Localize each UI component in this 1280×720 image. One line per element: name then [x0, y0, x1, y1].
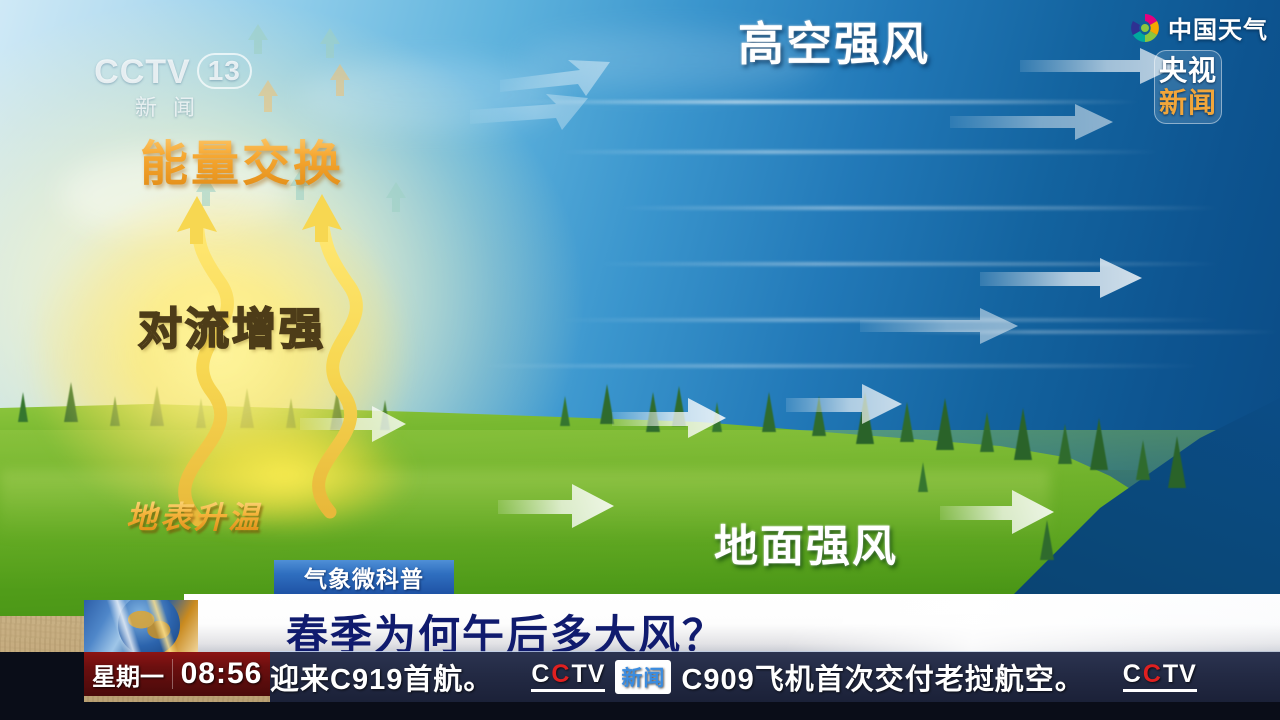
globe-swoosh	[84, 600, 198, 652]
channel-watermark-name: CCTV13	[78, 52, 268, 92]
news-badge: 央视 新闻	[1154, 50, 1222, 124]
tree	[1090, 418, 1108, 470]
weather-brand: 中国天气	[1128, 10, 1268, 45]
tree	[980, 412, 994, 452]
tree	[856, 392, 874, 444]
ticker-brand-label: 新闻	[615, 660, 671, 694]
channel-watermark: CCTV13 新闻	[78, 52, 268, 128]
category-tag: 气象微科普	[274, 560, 454, 594]
ticker-item: CCTV 新闻 C909飞机首次交付老挝航空。	[531, 656, 1084, 698]
category-tag-text: 气象微科普	[304, 560, 424, 594]
clock-time: 08:56	[173, 657, 270, 691]
tree	[672, 386, 686, 426]
ticker-content: 迎来C919首航。 CCTV 新闻 C909飞机首次交付老挝航空。 CCTV	[270, 656, 1235, 698]
tree	[712, 402, 722, 432]
ticker-item: CCTV	[1123, 662, 1197, 692]
ticker-item: 迎来C919首航。	[270, 656, 493, 698]
news-ticker: 迎来C919首航。 CCTV 新闻 C909飞机首次交付老挝航空。 CCTV	[270, 652, 1280, 702]
tree	[1168, 436, 1186, 488]
ticker-item-2-text: C909飞机首次交付老挝航空。	[681, 656, 1084, 698]
label-energy-exchange: 能量交换	[140, 124, 344, 194]
tree	[646, 392, 660, 432]
label-surface-wind: 地面强风	[714, 510, 898, 574]
tree	[812, 396, 826, 436]
tree	[1014, 408, 1032, 460]
tree	[1040, 520, 1054, 560]
label-convection: 对流增强	[138, 293, 326, 357]
cctv-logo-icon-tail: CCTV	[1123, 662, 1197, 692]
clock-panel: 星期一 08:56	[84, 652, 270, 696]
tree	[600, 384, 614, 424]
tree	[936, 398, 954, 450]
bottom-black-strip	[0, 702, 1280, 720]
tree	[560, 396, 570, 426]
ticker-item-1-text: 迎来C919首航。	[270, 656, 493, 698]
label-upper-wind: 高空强风	[738, 8, 930, 74]
tree	[1058, 424, 1072, 464]
tree	[918, 462, 928, 492]
weather-brand-text: 中国天气	[1168, 10, 1268, 45]
cctv-logo-icon: CCTV	[531, 662, 605, 692]
broadcast-screen: 高空强风 地面强风 能量交换 对流增强 地表升温 CCTV13 新闻 中国天气 …	[0, 0, 1280, 720]
news-badge-line1: 央视	[1159, 55, 1217, 87]
globe-logo	[84, 600, 198, 652]
tree	[1136, 440, 1150, 480]
weather-spiral-icon	[1128, 11, 1162, 45]
news-badge-line2: 新闻	[1159, 87, 1217, 119]
channel-name-text: CCTV	[94, 53, 191, 91]
clock-weekday: 星期一	[84, 657, 172, 692]
channel-sub-label: 新闻	[78, 90, 268, 122]
channel-number: 13	[197, 53, 252, 89]
tree	[762, 392, 776, 432]
tree	[900, 402, 914, 442]
label-surface-heating: 地表升温	[126, 492, 262, 537]
